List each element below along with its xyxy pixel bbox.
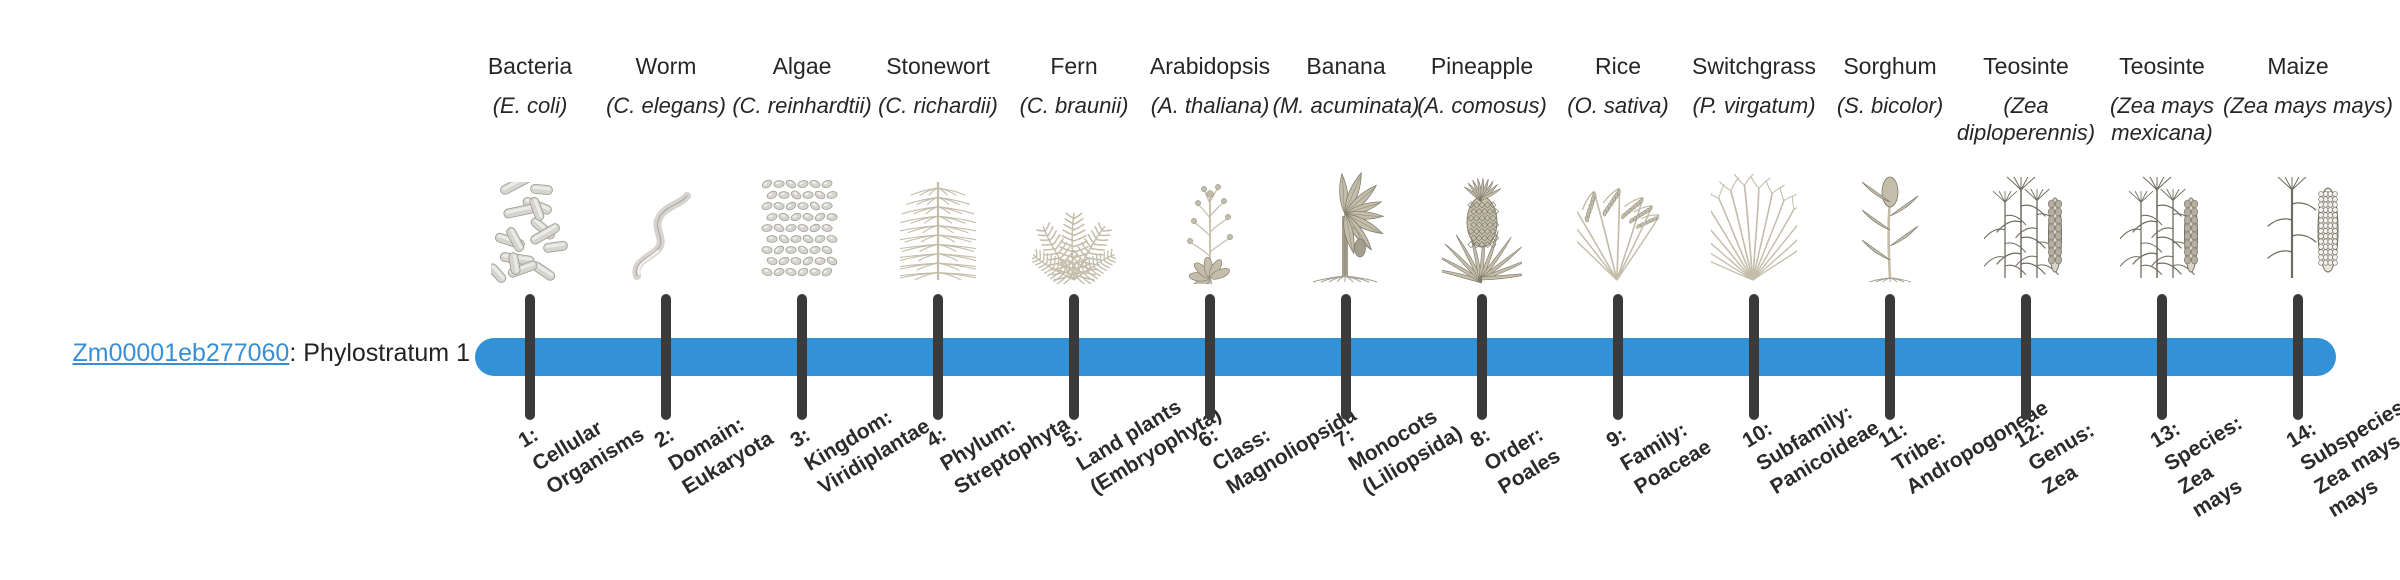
species-illustration-wrap [1135,172,1285,284]
species-common-name: Banana [1271,52,1421,81]
species-name-block: Teosinte (Zea diploperennis) [1951,52,2101,146]
species-illustration-wrap [863,172,1013,284]
species-illustration-wrap [1543,172,1693,284]
species-name-block: Algae (C. reinhardtii) [727,52,877,120]
species-name-block: Arabidopsis (A. thaliana) [1135,52,1285,120]
species-scientific-name: (S. bicolor) [1815,93,1965,120]
species-name-block: Bacteria (E. coli) [455,52,605,120]
timeline-tick-7[interactable] [1341,294,1351,420]
species-name-block: Banana (M. acuminata) [1271,52,1421,120]
timeline-tick-11[interactable] [1885,294,1895,420]
bacteria-rods-illustration [491,182,569,284]
banana-plant-illustration [1301,172,1391,284]
species-illustration-wrap [1407,172,1557,284]
timeline-tick-8[interactable] [1477,294,1487,420]
timeline-tick-2[interactable] [661,294,671,420]
species-name-block: Teosinte (Zea mays mexicana) [2087,52,2237,146]
species-common-name: Rice [1543,52,1693,81]
species-illustration-wrap [2087,172,2237,284]
species-common-name: Teosinte [2087,52,2237,81]
species-illustration-wrap [727,172,877,284]
species-common-name: Maize [2223,52,2373,81]
species-name-block: Pineapple (A. comosus) [1407,52,1557,120]
species-column: Sorghum (S. bicolor) 11: Tribe: Andropog… [1815,0,1965,580]
species-scientific-name: (Zea diploperennis) [1951,93,2101,147]
timeline-tick-4[interactable] [933,294,943,420]
species-illustration-wrap [591,172,741,284]
species-scientific-name: (P. virgatum) [1679,93,1829,120]
species-column: Teosinte (Zea diploperennis) 12: Genus: … [1951,0,2101,580]
species-column: Fern (C. braunii) 5: Land plants (Embryo… [999,0,1149,580]
timeline-tick-14[interactable] [2293,294,2303,420]
species-scientific-name: (Zea mays mays) [2223,93,2373,120]
species-name-block: Maize (Zea mays mays) [2223,52,2373,120]
species-scientific-name: (A. thaliana) [1135,93,1285,120]
species-scientific-name: (C. braunii) [999,93,1149,120]
species-common-name: Worm [591,52,741,81]
species-common-name: Algae [727,52,877,81]
species-common-name: Sorghum [1815,52,1965,81]
species-common-name: Fern [999,52,1149,81]
species-name-block: Switchgrass (P. virgatum) [1679,52,1829,120]
teosinte-diploperennis-illustration [1979,172,2073,284]
species-illustration-wrap [999,172,1149,284]
gene-id-link[interactable]: Zm00001eb277060 [72,339,289,367]
species-scientific-name: (Zea mays mexicana) [2087,93,2237,147]
switchgrass-illustration [1711,174,1797,284]
phylostratigraphy-timeline: Zm00001eb277060: Phylostratum 1 Bacteria… [0,0,2400,580]
species-column: Teosinte (Zea mays mexicana) 13: Species… [2087,0,2237,580]
species-illustration-wrap [1951,172,2101,284]
species-common-name: Stonewort [863,52,1013,81]
species-column: Algae (C. reinhardtii) [727,0,877,580]
species-scientific-name: (E. coli) [455,93,605,120]
timeline-tick-10[interactable] [1749,294,1759,420]
nematode-worm-illustration [623,188,709,284]
timeline-tick-12[interactable] [2021,294,2031,420]
arabidopsis-illustration [1170,178,1250,284]
species-illustration-wrap [1815,172,1965,284]
timeline-tick-6[interactable] [1205,294,1215,420]
species-column: Switchgrass (P. virgatum) [1679,0,1829,580]
timeline-tick-9[interactable] [1613,294,1623,420]
species-column: Worm (C. elegans) 2: Domain: Eukaryota [591,0,741,580]
species-column: Pineapple (A. comosus) [1407,0,1557,580]
species-common-name: Teosinte [1951,52,2101,81]
species-scientific-name: (C. reinhardtii) [727,93,877,120]
species-scientific-name: (C. elegans) [591,93,741,120]
timeline-tick-1[interactable] [525,294,535,420]
stonewort-illustration [900,176,976,284]
species-common-name: Arabidopsis [1135,52,1285,81]
species-name-block: Rice (O. sativa) [1543,52,1693,120]
phylostratum-value: Phylostratum 1 [303,339,470,367]
species-name-block: Worm (C. elegans) [591,52,741,120]
species-scientific-name: (O. sativa) [1543,93,1693,120]
species-column: Stonewort (C. richardii) 4: Phylum: Stre… [863,0,1013,580]
species-column: Banana (M. acuminata) [1271,0,1421,580]
species-column: Rice (O. sativa) [1543,0,1693,580]
species-illustration-wrap [455,172,605,284]
algae-cells-illustration [761,178,843,284]
timeline-tick-3[interactable] [797,294,807,420]
fern-frond-illustration [1032,180,1116,284]
rice-plant-illustration [1577,176,1659,284]
maize-illustration [2250,172,2346,284]
species-illustration-wrap [2223,172,2373,284]
species-name-block: Stonewort (C. richardii) [863,52,1013,120]
species-name-block: Fern (C. braunii) [999,52,1149,120]
pineapple-illustration [1442,176,1522,284]
species-name-block: Sorghum (S. bicolor) [1815,52,1965,120]
species-common-name: Pineapple [1407,52,1557,81]
species-column: Bacteria (E. coli) [455,0,605,580]
species-illustration-wrap [1679,172,1829,284]
timeline-tick-13[interactable] [2157,294,2167,420]
species-common-name: Bacteria [455,52,605,81]
species-column: Arabidopsis (A. thaliana) [1135,0,1285,580]
teosinte-mexicana-illustration [2115,172,2209,284]
species-scientific-name: (C. richardii) [863,93,1013,120]
species-scientific-name: (A. comosus) [1407,93,1557,120]
gene-label-separator: : [289,339,303,367]
timeline-tick-5[interactable] [1069,294,1079,420]
species-scientific-name: (M. acuminata) [1271,93,1421,120]
species-column: Maize (Zea mays mays) 14: Subspecies: Ze… [2223,0,2373,580]
species-common-name: Switchgrass [1679,52,1829,81]
gene-phylostratum-label: Zm00001eb277060: Phylostratum 1 [40,338,470,368]
species-illustration-wrap [1271,172,1421,284]
sorghum-illustration [1850,172,1930,284]
